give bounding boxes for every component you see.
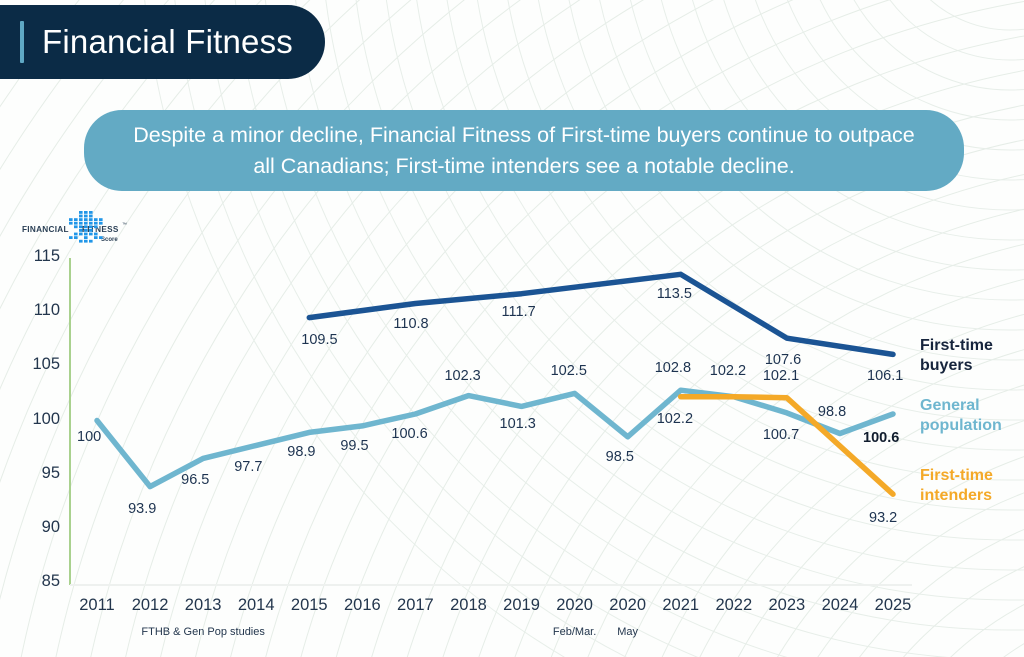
y-tick-105: 105 xyxy=(14,355,60,374)
legend-item-first-time-buyers[interactable]: First-timebuyers xyxy=(920,336,1024,377)
page-title: Financial Fitness xyxy=(42,23,293,61)
slide-title-bar: Financial Fitness xyxy=(0,5,325,79)
y-tick-110: 110 xyxy=(14,301,60,320)
data-label-1-14: 98.8 xyxy=(818,404,846,420)
data-label-1-3: 97.7 xyxy=(234,459,262,475)
x-tick-15-2025: 2025 xyxy=(858,596,928,615)
x-tick-sub-10: May xyxy=(588,626,668,638)
data-label-2-11: 102.2 xyxy=(657,411,693,427)
legend-label-line2: intenders xyxy=(920,486,1024,506)
data-label-0-4: 109.5 xyxy=(301,332,337,348)
data-label-1-10: 98.5 xyxy=(606,449,634,465)
series-line-first-time-buyers xyxy=(309,274,893,354)
data-label-1-8: 101.3 xyxy=(500,416,536,432)
slide-canvas: Financial Fitness Despite a minor declin… xyxy=(0,0,1024,657)
data-label-1-6: 100.6 xyxy=(391,426,427,442)
data-label-1-5: 99.5 xyxy=(340,438,368,454)
data-label-1-2: 96.5 xyxy=(181,472,209,488)
data-label-1-9: 102.5 xyxy=(551,363,587,379)
callout-text: Despite a minor decline, Financial Fitne… xyxy=(84,110,964,191)
data-label-2-15: 93.2 xyxy=(869,510,897,526)
data-label-1-13: 100.7 xyxy=(763,427,799,443)
data-label-0-11: 113.5 xyxy=(657,286,692,302)
data-label-1-15: 100.6 xyxy=(863,430,899,446)
data-label-1-4: 98.9 xyxy=(287,444,315,460)
x-axis-note-0: FTHB & Gen Pop studies xyxy=(103,626,303,638)
y-tick-100: 100 xyxy=(14,410,60,429)
financial-fitness-score-logo: FINANCIAL FITNESS ™ Score xyxy=(22,210,130,246)
logo-word-financial: FINANCIAL xyxy=(22,225,69,234)
data-label-1-0: 100 xyxy=(77,429,101,445)
legend-label-line2: population xyxy=(920,416,1024,436)
data-label-0-8: 111.7 xyxy=(502,304,536,320)
data-label-0-6: 110.8 xyxy=(393,316,428,332)
logo-trademark: ™ xyxy=(122,222,127,228)
y-tick-95: 95 xyxy=(14,464,60,483)
data-label-0-15: 106.1 xyxy=(867,368,903,384)
pixel-cross-icon xyxy=(66,210,106,246)
data-label-0-13: 107.6 xyxy=(765,352,801,368)
y-tick-85: 85 xyxy=(14,572,60,591)
data-label-1-1: 93.9 xyxy=(128,501,156,517)
title-accent-bar xyxy=(20,21,24,63)
legend-label-line1: General xyxy=(920,396,1024,416)
legend-label-line1: First-time xyxy=(920,466,1024,486)
y-tick-90: 90 xyxy=(14,518,60,537)
data-label-1-7: 102.3 xyxy=(444,368,480,384)
legend-label-line2: buyers xyxy=(920,356,1024,376)
data-label-1-11: 102.8 xyxy=(655,360,691,376)
legend-label-line1: First-time xyxy=(920,336,1024,356)
data-label-1-12: 102.2 xyxy=(710,363,746,379)
legend-item-first-time-intenders[interactable]: First-timeintenders xyxy=(920,466,1024,507)
data-label-2-13: 102.1 xyxy=(763,368,799,384)
financial-fitness-line-chart: 859095100105110115 201120122013201420152… xyxy=(0,236,1024,657)
legend-item-general-population[interactable]: Generalpopulation xyxy=(920,396,1024,437)
callout-banner: Despite a minor decline, Financial Fitne… xyxy=(84,110,964,191)
y-tick-115: 115 xyxy=(14,247,60,266)
